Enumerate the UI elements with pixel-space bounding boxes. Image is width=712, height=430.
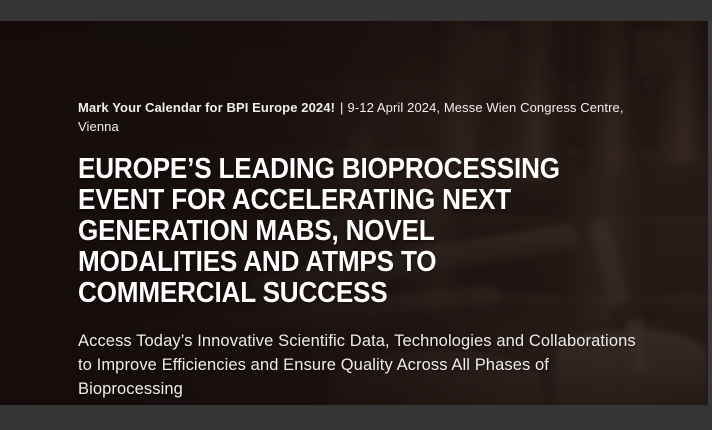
eyebrow-strong-text: Mark Your Calendar for BPI Europe 2024! bbox=[78, 100, 335, 115]
hero-banner: Mark Your Calendar for BPI Europe 2024!|… bbox=[0, 21, 708, 405]
hero-subheadline: Access Today’s Innovative Scientific Dat… bbox=[78, 329, 638, 401]
window-chrome-right bbox=[708, 21, 712, 405]
window-chrome-top bbox=[0, 0, 712, 21]
page-root: Mark Your Calendar for BPI Europe 2024!|… bbox=[0, 0, 712, 430]
eyebrow-separator: | bbox=[335, 100, 347, 115]
window-chrome-bottom bbox=[0, 405, 712, 430]
event-eyebrow: Mark Your Calendar for BPI Europe 2024!|… bbox=[78, 98, 638, 136]
hero-headline: Europe’s Leading Bioprocessing Event for… bbox=[78, 154, 582, 309]
hero-copy-block: Mark Your Calendar for BPI Europe 2024!|… bbox=[78, 98, 638, 401]
